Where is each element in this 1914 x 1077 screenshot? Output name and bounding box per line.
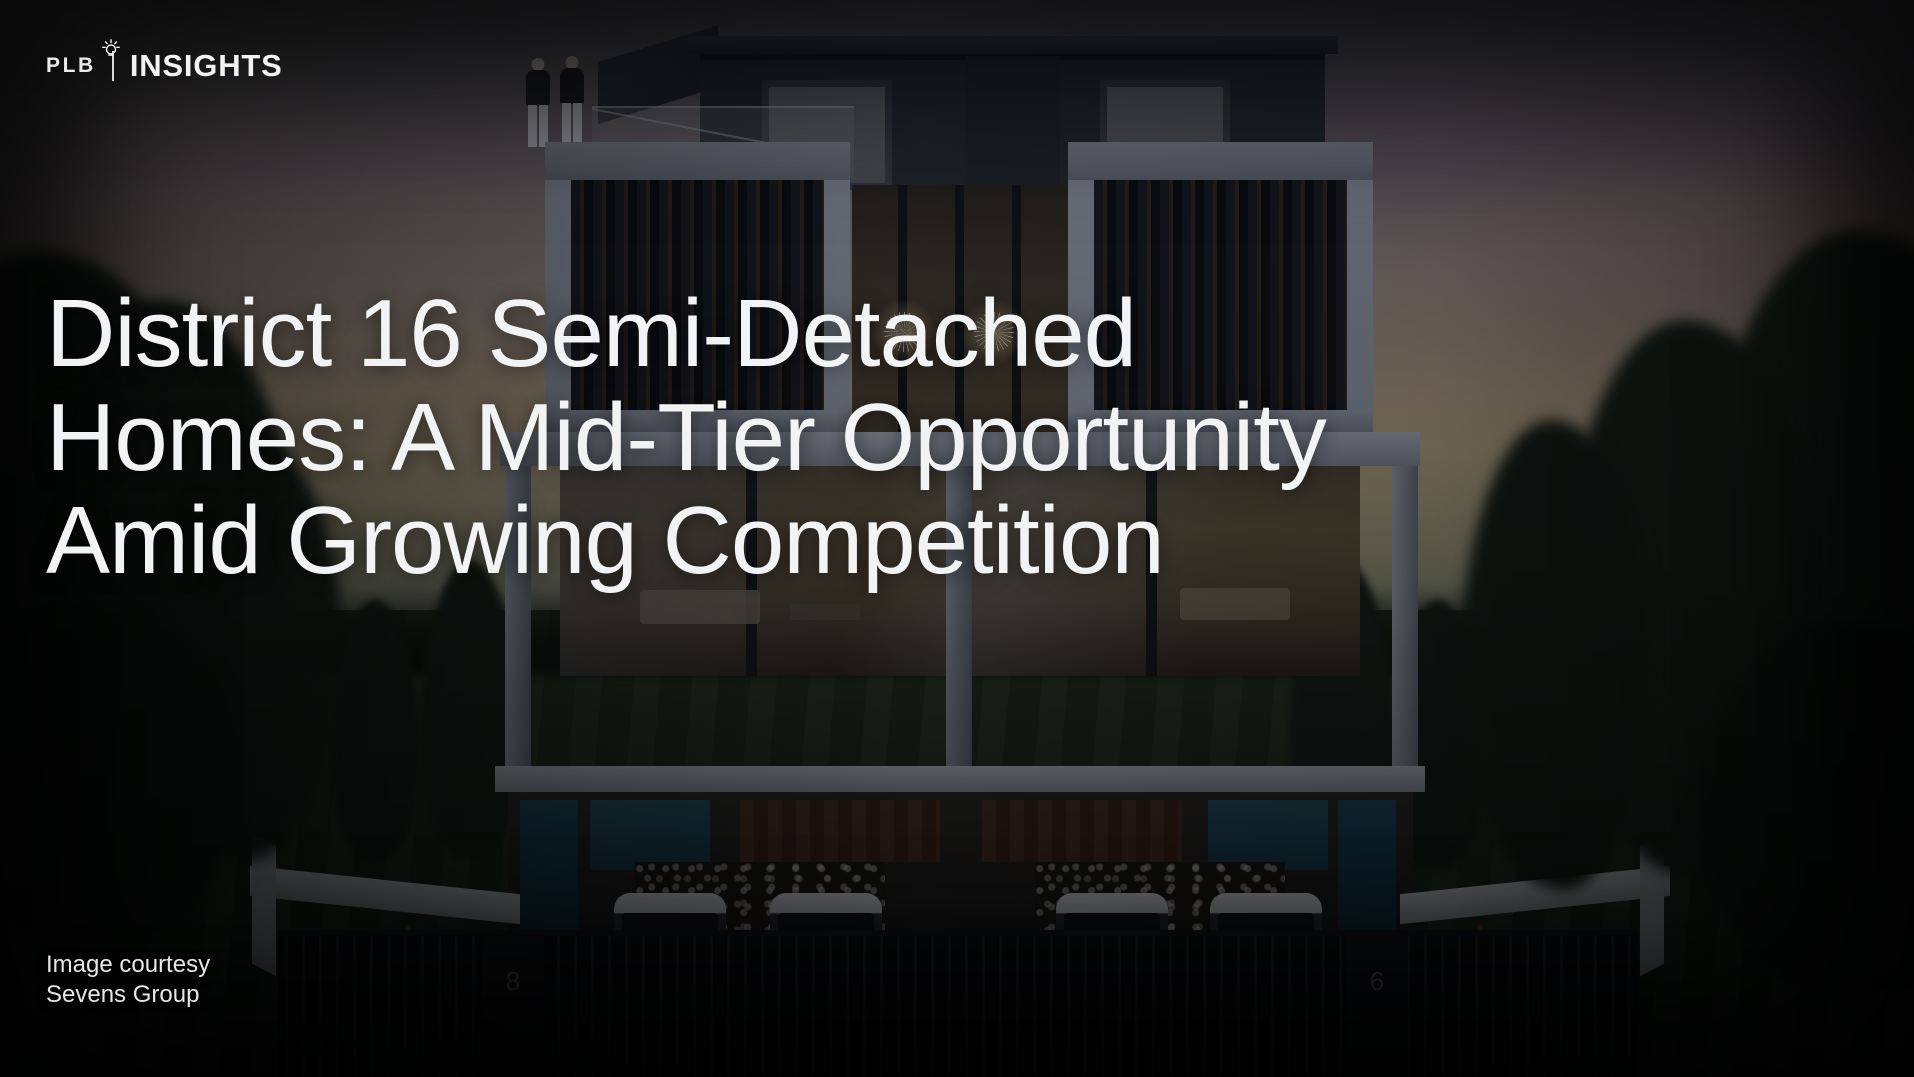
image-credit: Image courtesy Sevens Group xyxy=(46,950,210,1010)
headline-line-3: Amid Growing Competition xyxy=(46,489,1746,593)
page-title: District 16 Semi-Detached Homes: A Mid-T… xyxy=(46,282,1746,593)
brand-name-label: INSIGHTS xyxy=(130,48,283,84)
image-credit-line-2: Sevens Group xyxy=(46,980,210,1010)
brand-logo[interactable]: PLB INSIGHTS xyxy=(46,48,283,84)
vertical-divider-icon xyxy=(112,51,114,81)
brand-prefix-label: PLB xyxy=(46,54,96,78)
headline-line-2: Homes: A Mid-Tier Opportunity xyxy=(46,386,1746,490)
headline-line-1: District 16 Semi-Detached xyxy=(46,282,1746,386)
hero-banner: 8 6 PLB INSIGHTS xyxy=(0,0,1914,1077)
image-credit-line-1: Image courtesy xyxy=(46,950,210,980)
